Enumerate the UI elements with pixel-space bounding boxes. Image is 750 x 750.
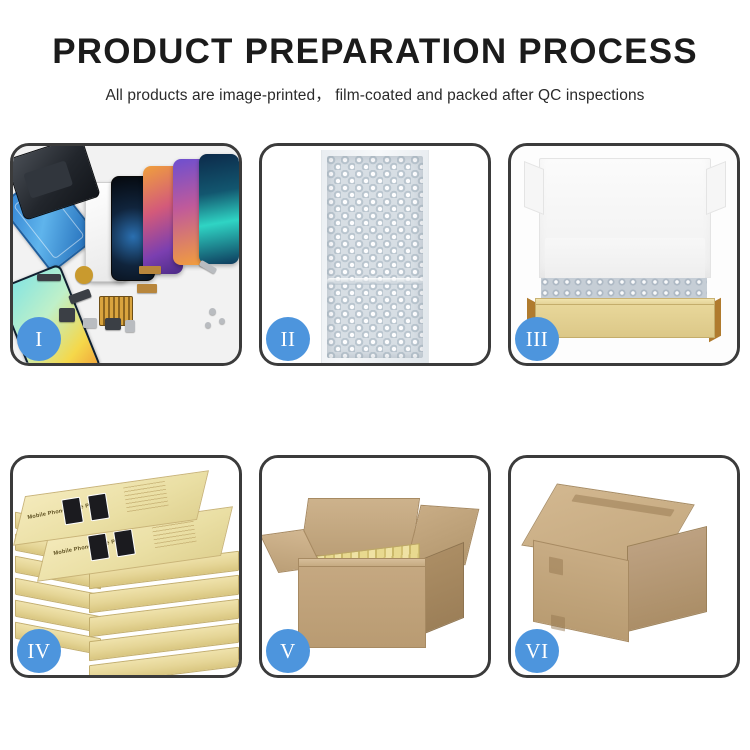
step-panel-6[interactable]: VI [508,455,740,678]
step-panel-5[interactable]: V [259,455,491,678]
step-badge-2: II [266,317,310,361]
screw-part-a [209,308,216,315]
header: PRODUCT PREPARATION PROCESS All products… [0,0,750,105]
page-subtitle: All products are image-printed， film-coa… [0,83,750,105]
camera-module-part [68,289,92,305]
mailer-box-front [535,304,715,338]
process-step-grid: I II III [10,143,740,723]
sealed-carton-flap-tab-upper [549,557,563,576]
page-title: PRODUCT PREPARATION PROCESS [0,34,750,71]
step-image-2: II [262,146,488,363]
small-screw-part [125,320,135,332]
bubble-wrap-bubbles [327,156,423,358]
bubble-wrap-crease [327,278,423,285]
step-panel-2[interactable]: II [259,143,491,366]
retail-box-screen-image-2a [87,533,110,562]
step-image-5: V [262,458,488,675]
step-image-1: I [13,146,239,363]
retail-box-screen-image-1a [61,497,84,526]
step-badge-1: I [17,317,61,361]
flex-cable-part-2 [137,284,157,293]
product-preparation-infographic: PRODUCT PREPARATION PROCESS All products… [0,0,750,750]
screw-part-c [205,322,211,328]
sealed-carton-flap-tab-lower [551,615,565,632]
vibrator-part [83,318,97,328]
teal-phone [199,154,239,264]
speaker-part [59,308,75,322]
step-panel-3[interactable]: III [508,143,740,366]
step-image-3: III [511,146,737,363]
step-panel-4[interactable]: Mobile Phone Spare Parts Mobile Phone Sp… [10,455,242,678]
step-panel-1[interactable]: I [10,143,242,366]
screw-part-b [219,318,225,324]
step-badge-3: III [515,317,559,361]
step-image-6: VI [511,458,737,675]
sealed-carton-right-face [627,526,707,632]
step-badge-5: V [266,629,310,673]
carton-right-side [424,542,464,634]
gold-coil-part [75,266,93,284]
retail-box-screen-image-1b [87,493,110,522]
carton-front [298,566,426,648]
battery-connector-part [37,274,61,281]
retail-box-screen-image-2b [113,529,136,558]
step-image-4: Mobile Phone Spare Parts Mobile Phone Sp… [13,458,239,675]
sim-tray-part [105,318,121,330]
flex-cable-part [139,266,161,274]
step-badge-4: IV [17,629,61,673]
step-badge-6: VI [515,629,559,673]
